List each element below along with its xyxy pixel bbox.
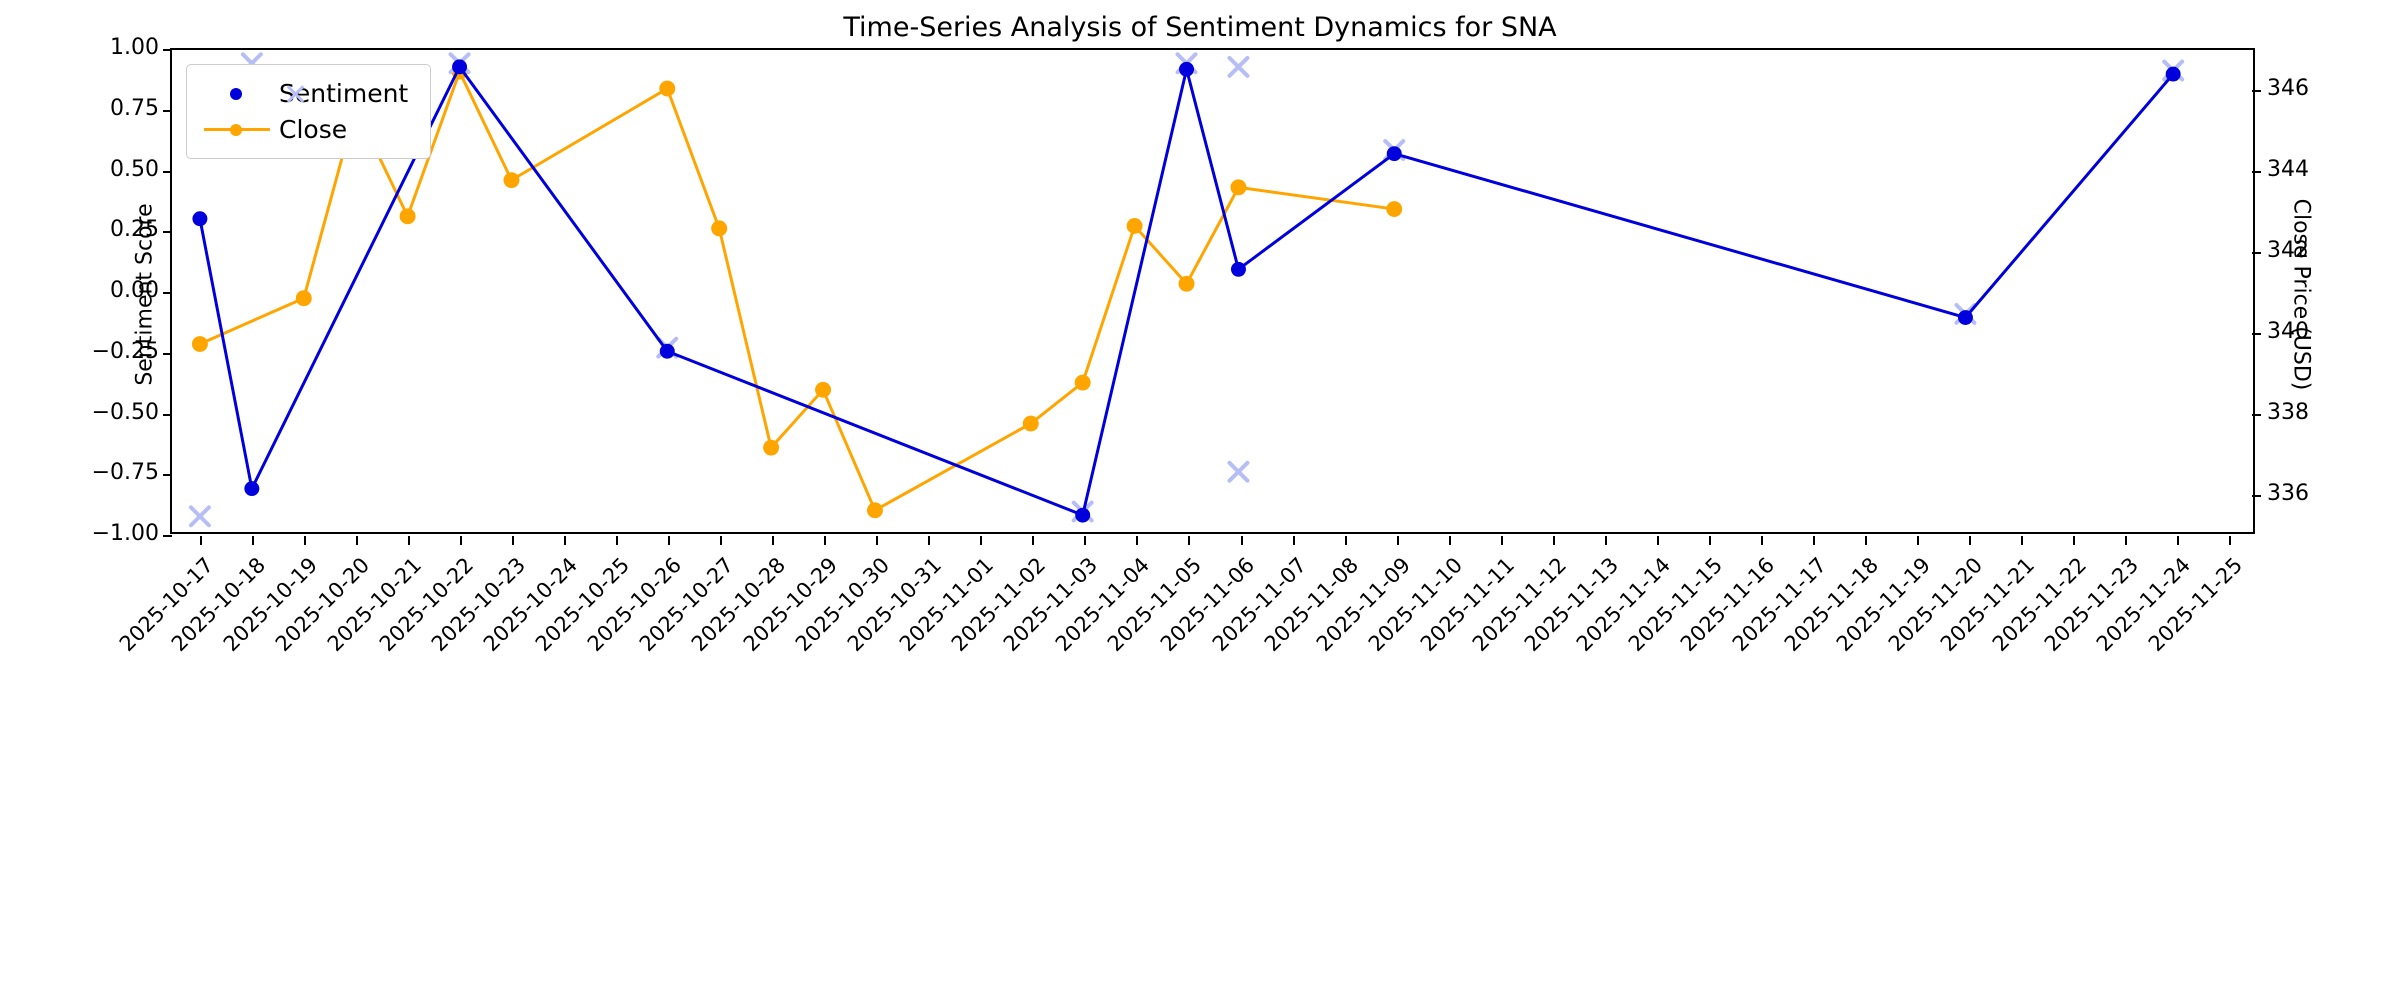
tick-mark (163, 414, 172, 416)
data-point-marker (192, 211, 207, 226)
y-tick-right-label: 336 (2267, 481, 2309, 506)
tick-mark (668, 536, 670, 545)
y-tick-left-label: 0.75 (110, 96, 159, 121)
plot-lines-svg (172, 50, 2253, 532)
tick-mark (2252, 90, 2261, 92)
data-point-marker (1179, 62, 1194, 77)
y-tick-right-label: 346 (2267, 76, 2309, 101)
tick-mark (1293, 536, 1295, 545)
tick-mark (163, 49, 172, 51)
tick-mark (163, 353, 172, 355)
tick-mark (1188, 536, 1190, 545)
data-point-marker (1127, 218, 1143, 234)
tick-mark (928, 536, 930, 545)
legend-marker-close (201, 116, 273, 142)
data-point-marker (1387, 146, 1402, 161)
data-point-marker (1230, 179, 1246, 195)
data-point-marker (1386, 201, 1402, 217)
data-point-marker (1075, 375, 1091, 391)
data-point-marker (1179, 276, 1195, 292)
y-tick-left-label: −0.50 (92, 400, 159, 425)
chart-legend[interactable]: ✕ Sentiment Close (186, 64, 431, 159)
tick-mark (1553, 536, 1555, 545)
data-point-marker (244, 481, 259, 496)
tick-mark (163, 474, 172, 476)
legend-marker-sentiment (201, 80, 273, 106)
tick-mark (2021, 536, 2023, 545)
data-point-marker (763, 440, 779, 456)
tick-mark (1969, 536, 1971, 545)
tick-mark (1605, 536, 1607, 545)
data-point-marker (296, 290, 312, 306)
tick-mark (720, 536, 722, 545)
tick-mark (163, 535, 172, 537)
tick-mark (2229, 536, 2231, 545)
data-point-marker (815, 382, 831, 398)
tick-mark (163, 110, 172, 112)
y-tick-right-label: 344 (2267, 157, 2309, 182)
tick-mark (1709, 536, 1711, 545)
tick-mark (1032, 536, 1034, 545)
tick-mark (163, 171, 172, 173)
tick-mark (1397, 536, 1399, 545)
tick-mark (1241, 536, 1243, 545)
data-point-marker (452, 59, 467, 74)
data-point-marker (400, 208, 416, 224)
tick-mark (2125, 536, 2127, 545)
y-tick-left-label: 0.00 (110, 278, 159, 303)
tick-mark (1917, 536, 1919, 545)
tick-mark (2252, 333, 2261, 335)
chart-title: Time-Series Analysis of Sentiment Dynami… (0, 12, 2400, 43)
tick-mark (2073, 536, 2075, 545)
tick-mark (1084, 536, 1086, 545)
data-point-marker (659, 81, 675, 97)
data-point-marker (867, 502, 883, 518)
y-tick-left-label: −1.00 (92, 521, 159, 546)
y-tick-right-label: 342 (2267, 238, 2309, 263)
tick-mark (1813, 536, 1815, 545)
tick-mark (616, 536, 618, 545)
legend-label-sentiment: Sentiment (273, 79, 408, 108)
tick-mark (1136, 536, 1138, 545)
tick-mark (564, 536, 566, 545)
legend-item-sentiment[interactable]: Sentiment (201, 75, 408, 111)
y-tick-left-label: 0.50 (110, 157, 159, 182)
tick-mark (200, 536, 202, 545)
tick-mark (460, 536, 462, 545)
data-point-marker (660, 344, 675, 359)
chart-figure: Time-Series Analysis of Sentiment Dynami… (0, 0, 2400, 1000)
y-tick-left-label: −0.25 (92, 339, 159, 364)
tick-mark (163, 292, 172, 294)
data-point-marker (1075, 508, 1090, 523)
tick-mark (163, 231, 172, 233)
y-tick-left-label: 0.25 (110, 217, 159, 242)
tick-mark (2252, 252, 2261, 254)
y-tick-right-label: 338 (2267, 400, 2309, 425)
tick-mark (2177, 536, 2179, 545)
tick-mark (1345, 536, 1347, 545)
tick-mark (824, 536, 826, 545)
tick-mark (1501, 536, 1503, 545)
data-point-marker (1023, 416, 1039, 432)
data-point-marker (1231, 262, 1246, 277)
tick-mark (1761, 536, 1763, 545)
plot-area: Sentiment Score Close Price (USD) −1.00−… (170, 48, 2255, 534)
data-point-marker (1958, 310, 1973, 325)
ghost-x-marker (1229, 58, 1247, 76)
tick-mark (1657, 536, 1659, 545)
tick-mark (304, 536, 306, 545)
tick-mark (252, 536, 254, 545)
legend-label-close: Close (273, 115, 347, 144)
tick-mark (408, 536, 410, 545)
legend-item-close[interactable]: Close (201, 111, 408, 147)
tick-mark (356, 536, 358, 545)
tick-mark (876, 536, 878, 545)
tick-mark (2252, 171, 2261, 173)
tick-mark (772, 536, 774, 545)
tick-mark (2252, 495, 2261, 497)
data-point-marker (2166, 67, 2181, 82)
y-tick-right-label: 340 (2267, 319, 2309, 344)
tick-mark (1449, 536, 1451, 545)
y-tick-left-label: 1.00 (110, 35, 159, 60)
tick-mark (512, 536, 514, 545)
data-point-marker (711, 220, 727, 236)
tick-mark (980, 536, 982, 545)
ghost-x-marker (191, 507, 209, 525)
tick-mark (2252, 414, 2261, 416)
data-point-marker (503, 172, 519, 188)
data-point-marker (192, 336, 208, 352)
y-axis-label-right: Close Price (USD) (2289, 52, 2314, 538)
y-tick-left-label: −0.75 (92, 460, 159, 485)
ghost-x-marker (1229, 463, 1247, 481)
tick-mark (1865, 536, 1867, 545)
